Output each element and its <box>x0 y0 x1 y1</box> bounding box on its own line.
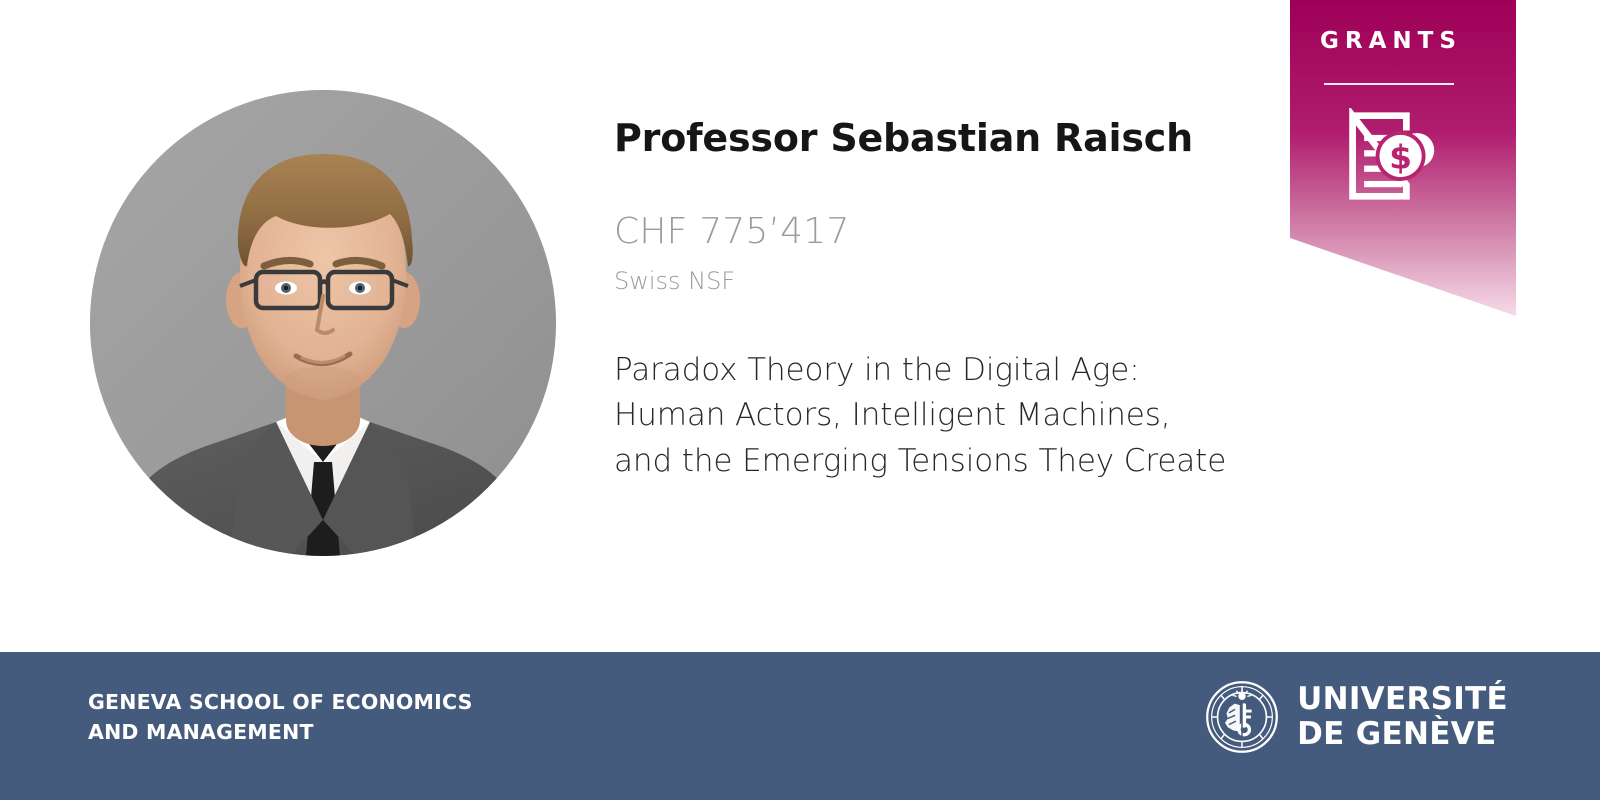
ribbon-shape <box>1288 0 1518 318</box>
school-name-line: AND MANAGEMENT <box>88 718 473 748</box>
page-title: Professor Sebastian Raisch <box>614 118 1274 160</box>
portrait-photo <box>90 90 556 556</box>
university-wordmark: UNIVERSITÉ DE GENÈVE <box>1297 682 1508 752</box>
project-title: Paradox Theory in the Digital Age: Human… <box>614 295 1274 485</box>
avatar <box>90 90 556 556</box>
grant-announcement-card: Professor Sebastian Raisch CHF 775’417 S… <box>0 0 1600 800</box>
university-logo: UNIVERSITÉ DE GENÈVE <box>1205 680 1508 754</box>
grant-funder: Swiss NSF <box>614 251 1274 294</box>
school-name: GENEVA SCHOOL OF ECONOMICS AND MANAGEMEN… <box>88 688 473 747</box>
footer-bar: GENEVA SCHOOL OF ECONOMICS AND MANAGEMEN… <box>0 652 1600 800</box>
grants-ribbon: GRANTS $ <box>1288 0 1518 318</box>
university-wordmark-line: UNIVERSITÉ <box>1297 682 1508 717</box>
school-name-line: GENEVA SCHOOL OF ECONOMICS <box>88 688 473 718</box>
unige-seal-icon <box>1205 680 1279 754</box>
project-title-line: Paradox Theory in the Digital Age: <box>614 348 1274 394</box>
grant-details: Professor Sebastian Raisch CHF 775’417 S… <box>614 118 1274 484</box>
grant-amount: CHF 775’417 <box>614 160 1274 252</box>
project-title-line: and the Emerging Tensions They Create <box>614 439 1274 485</box>
project-title-line: Human Actors, Intelligent Machines, <box>614 393 1274 439</box>
university-wordmark-line: DE GENÈVE <box>1297 717 1508 752</box>
